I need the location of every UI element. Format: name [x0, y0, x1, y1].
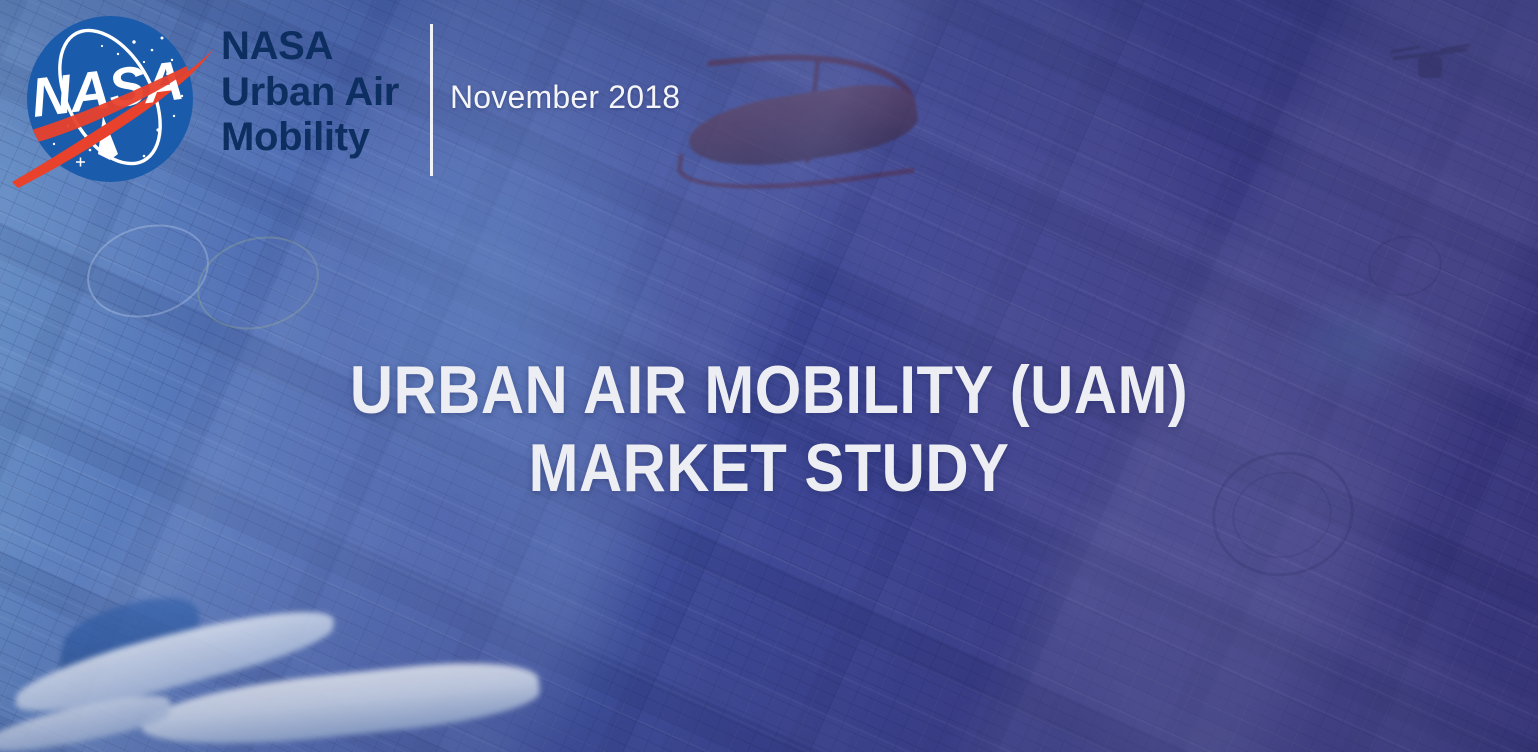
- uam-market-study-title-slide: NASA NASA Urban Air Mobility November 20…: [0, 0, 1538, 752]
- page-title: URBAN AIR MOBILITY (UAM) MARKET STUDY: [92, 352, 1445, 507]
- nasa-meatball-logo-icon: NASA: [6, 4, 218, 190]
- publication-date: November 2018: [450, 79, 680, 116]
- airliner-silhouette-icon: [0, 596, 530, 752]
- nasa-uam-wordmark: NASA Urban Air Mobility: [221, 24, 421, 161]
- vertiport-pad-icon: [1363, 230, 1446, 302]
- vertiport-pad-icon: [76, 211, 220, 332]
- vertiport-pad-icon: [186, 223, 330, 344]
- quadcopter-drone-icon: [1390, 38, 1470, 88]
- header-divider-rule: [430, 24, 433, 176]
- evtol-aircraft-icon: [660, 42, 970, 202]
